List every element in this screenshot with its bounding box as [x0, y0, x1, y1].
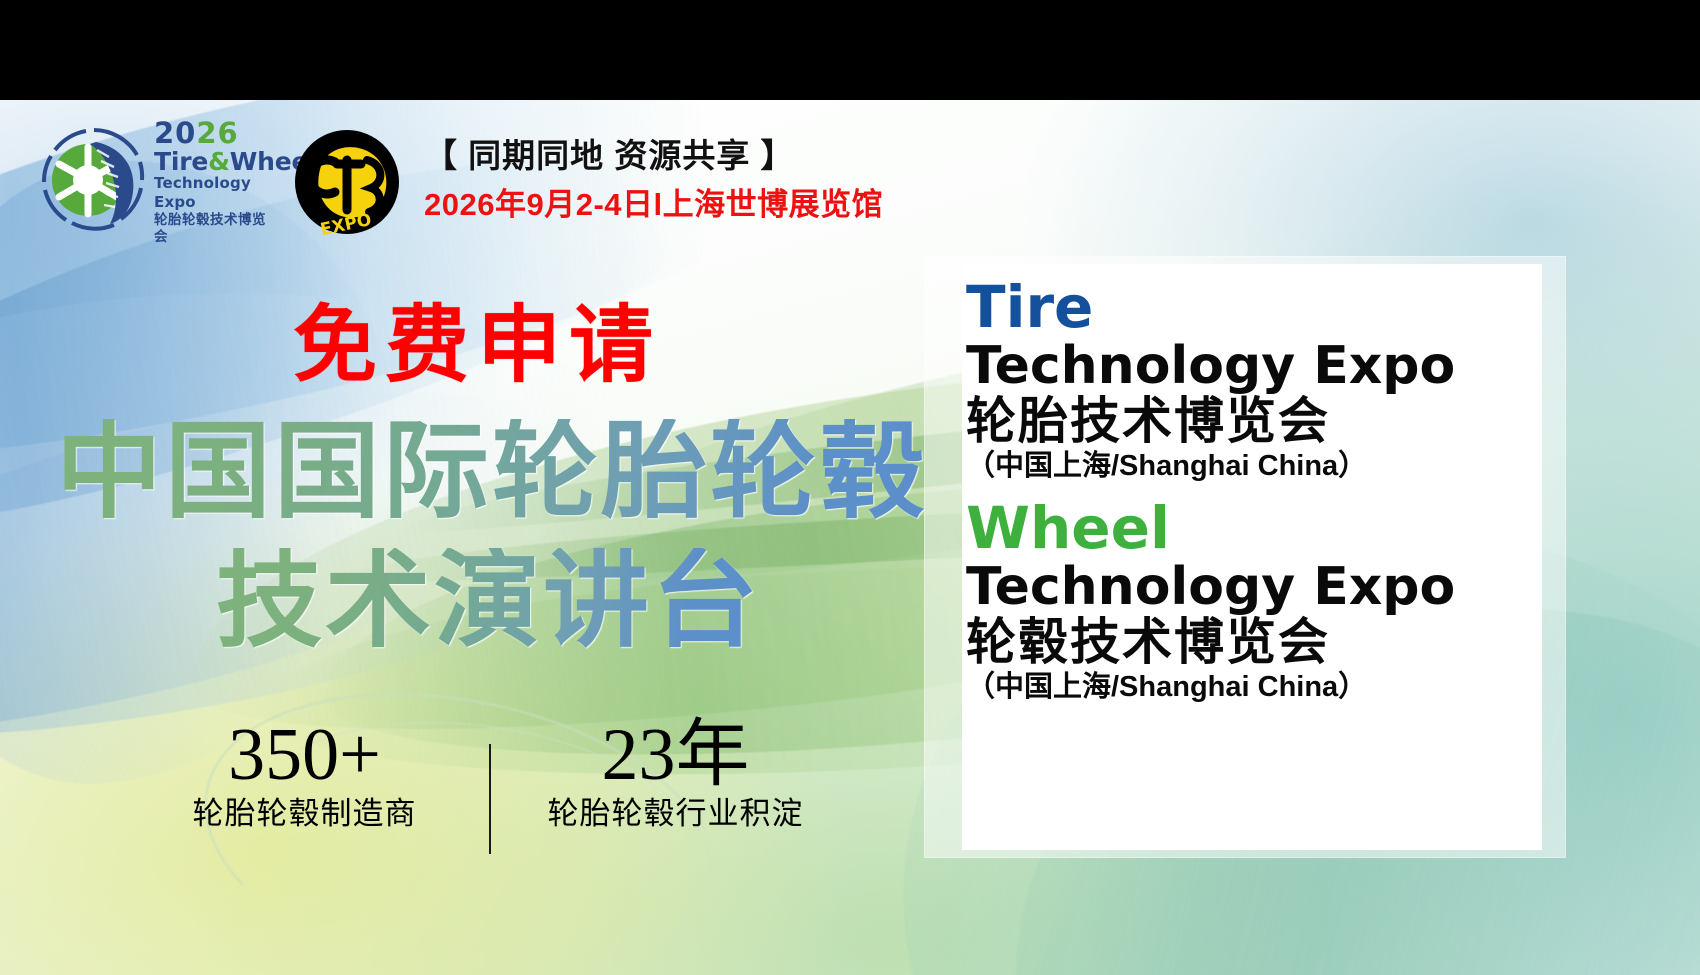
hero-title-line-1: 中国国际轮胎轮毂 [56, 419, 928, 525]
stat-label: 轮胎轮毂制造商 [120, 795, 489, 832]
brand-location-wheel: （中国上海/Shanghai China） [966, 672, 1532, 704]
tire-wheel-logo-icon [40, 126, 148, 234]
hero-title-line-2: 技术演讲台 [216, 548, 761, 654]
banner-stage: 2026 Tire&Wheel Technology Expo 轮胎轮毂技术博览… [0, 0, 1700, 975]
logo-subtitle-en: Technology Expo [154, 174, 272, 212]
brand-panel-content: Tire Technology Expo 轮胎技术博览会 （中国上海/Shang… [962, 264, 1542, 850]
header-tagline: 【 同期同地 资源共享 】 [424, 136, 1144, 176]
top-black-bar [0, 0, 1700, 100]
logo-name-amp: & [208, 147, 230, 176]
brand-word-wheel: Wheel [966, 499, 1532, 558]
brand-tech-en-tire: Technology Expo [966, 339, 1532, 393]
tire-wheel-logo-wordmark: 2026 Tire&Wheel Technology Expo 轮胎轮毂技术博览… [154, 115, 272, 246]
stat-item-manufacturers: 350+ 轮胎轮毂制造商 [120, 718, 489, 833]
logo-name: Tire&Wheel [154, 149, 272, 175]
brand-tech-en-wheel: Technology Expo [966, 560, 1532, 614]
brand-word-tire: Tire [966, 278, 1532, 337]
logo-year-second: 26 [196, 116, 238, 150]
brand-tech-cn-wheel: 轮毂技术博览会 [966, 616, 1532, 669]
logo-subtitle-cn: 轮胎轮毂技术博览会 [154, 212, 272, 246]
brand-block-tire: Tire Technology Expo 轮胎技术博览会 （中国上海/Shang… [966, 278, 1532, 483]
header-date-venue: 2026年9月2-4日l上海世博展览馆 [424, 186, 1144, 223]
stats-row: 350+ 轮胎轮毂制造商 23年 轮胎轮毂行业积淀 [120, 718, 860, 854]
stat-item-years: 23年 轮胎轮毂行业积淀 [491, 718, 860, 833]
citexpo-logo-icon: EXPO [291, 128, 403, 240]
brand-block-wheel: Wheel Technology Expo 轮毂技术博览会 （中国上海/Shan… [966, 499, 1532, 704]
stat-label: 轮胎轮毂行业积淀 [491, 795, 860, 832]
logo-name-tire: Tire [154, 147, 208, 176]
header-strapline: 【 同期同地 资源共享 】 2026年9月2-4日l上海世博展览馆 [424, 136, 1144, 223]
brand-location-tire: （中国上海/Shanghai China） [966, 451, 1532, 483]
free-application-badge: 免费申请 [293, 303, 661, 387]
stat-value: 23年 [491, 718, 860, 793]
tire-wheel-expo-logo: 2026 Tire&Wheel Technology Expo 轮胎轮毂技术博览… [40, 123, 272, 237]
logo-year-first: 20 [154, 116, 196, 150]
stat-value: 350+ [120, 718, 489, 793]
brand-tech-cn-tire: 轮胎技术博览会 [966, 395, 1532, 448]
logo-year: 2026 [154, 119, 272, 148]
